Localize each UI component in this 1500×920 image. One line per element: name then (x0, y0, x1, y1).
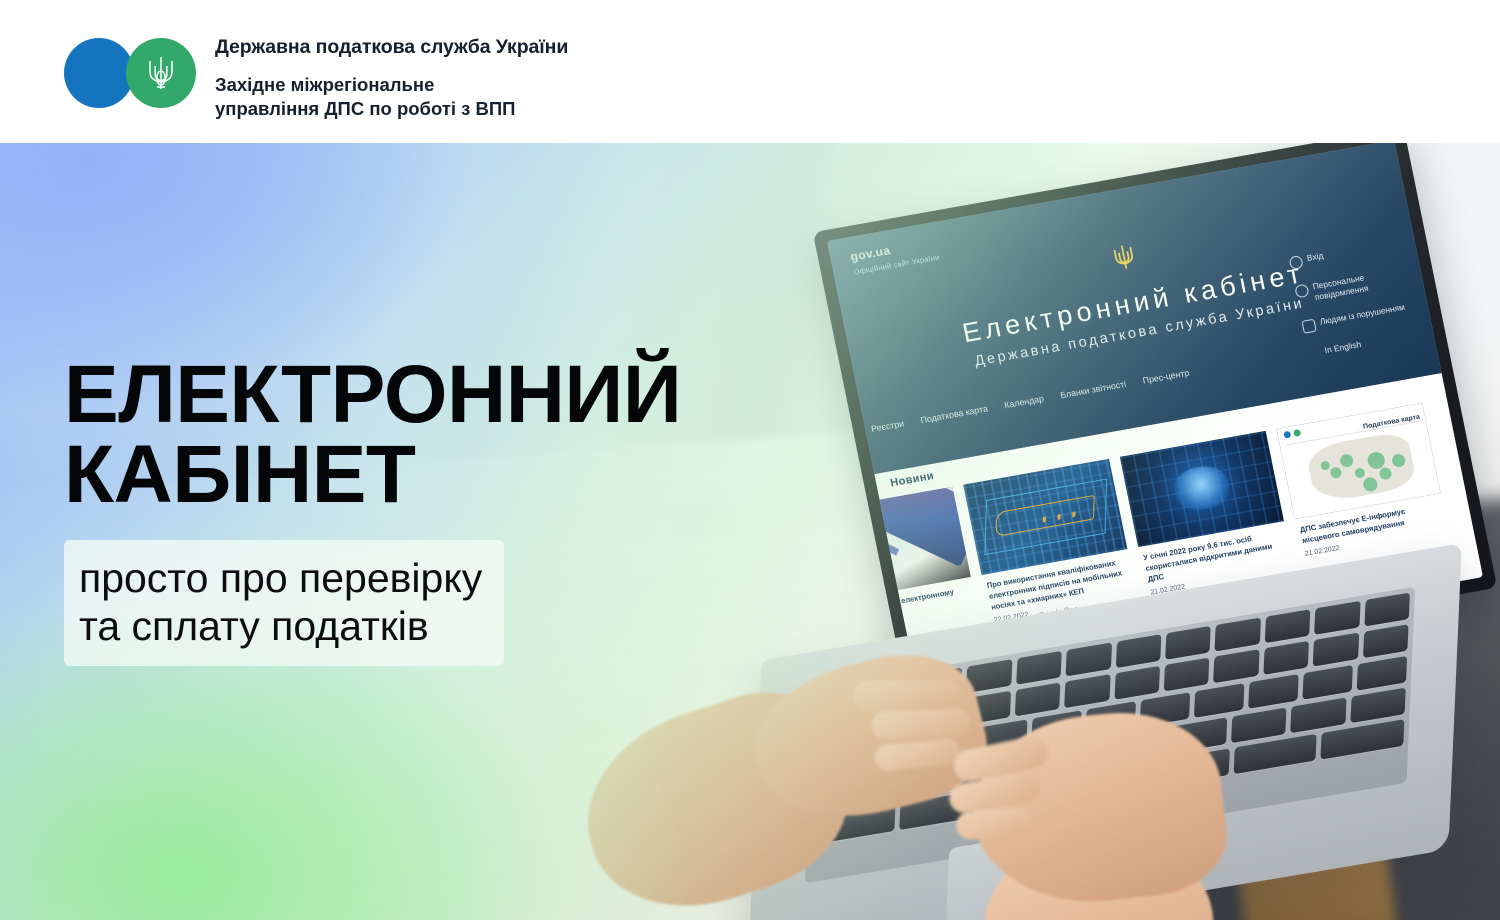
side-menu-item-accessibility[interactable]: Людям із порушенням (1301, 299, 1420, 333)
macbook-pro-laptop: gov.ua Офіційний сайт України (735, 153, 1495, 920)
nav-item-report-forms[interactable]: Бланки звітності (1059, 379, 1127, 400)
nav-item-tax-map[interactable]: Податкова карта (920, 403, 989, 425)
hero-copy: Електронний кабінет просто про перевірку… (64, 355, 764, 666)
page-subtitle: просто про перевірку та сплату податків (79, 554, 482, 651)
hero-banner: gov.ua Офіційний сайт України (0, 143, 1500, 920)
org-name: Державна податкова служба України (215, 38, 775, 58)
nav-item-registries[interactable]: Реєстри (870, 418, 905, 434)
news-card[interactable]: Про використання кваліфікованих електрон… (963, 459, 1137, 625)
poster-canvas: Державна податкова служба України Західн… (0, 0, 1500, 920)
eye-icon (1301, 319, 1316, 334)
logo-green-circle-icon (1293, 429, 1301, 437)
ukrainian-trident-icon (146, 54, 176, 92)
news-section-heading: Новини (889, 470, 935, 489)
logo-green-circle-icon (126, 38, 196, 108)
news-card[interactable]: Податкова карта (1276, 403, 1450, 569)
news-card[interactable]: У січні 2022 року 9,6 тис. осіб скориста… (1120, 431, 1294, 597)
ukrainian-trident-icon (1110, 241, 1137, 272)
page-title: Електронний кабінет (64, 355, 764, 516)
hero-subtitle-box: просто про перевірку та сплату податків (64, 540, 504, 667)
side-menu-label: Персональне повідомлення (1312, 264, 1415, 302)
nav-item-calendar[interactable]: Календар (1003, 393, 1044, 410)
side-menu-label: In English (1324, 339, 1362, 356)
side-menu-item-login[interactable]: Вхід (1288, 236, 1407, 270)
accessibility-icon (1294, 283, 1309, 298)
side-menu-label: Вхід (1306, 250, 1324, 263)
department-name-line2: управління ДПС по роботі з ВПП (215, 97, 775, 121)
site-side-menu[interactable]: Вхід Персональне повідомлення Людям із п… (1288, 236, 1425, 361)
gov-ua-label: gov.ua (849, 243, 891, 264)
logo-blue-circle-icon (1283, 431, 1291, 439)
org-identity: Державна податкова служба України Західн… (215, 38, 775, 121)
side-menu-label: Людям із порушенням (1319, 302, 1406, 327)
logo-blue-circle-icon (64, 38, 134, 108)
department-name-line1: Західне міжрегіональне (215, 73, 775, 97)
language-icon (1307, 347, 1321, 360)
side-menu-item-language[interactable]: In English (1307, 328, 1426, 360)
dps-logo (64, 38, 200, 108)
user-login-icon (1288, 255, 1303, 270)
nav-item-press-center[interactable]: Прес-центр (1142, 368, 1190, 386)
brand-header: Державна податкова служба України Західн… (0, 0, 1500, 143)
side-menu-item-notifications[interactable]: Персональне повідомлення (1294, 264, 1414, 305)
